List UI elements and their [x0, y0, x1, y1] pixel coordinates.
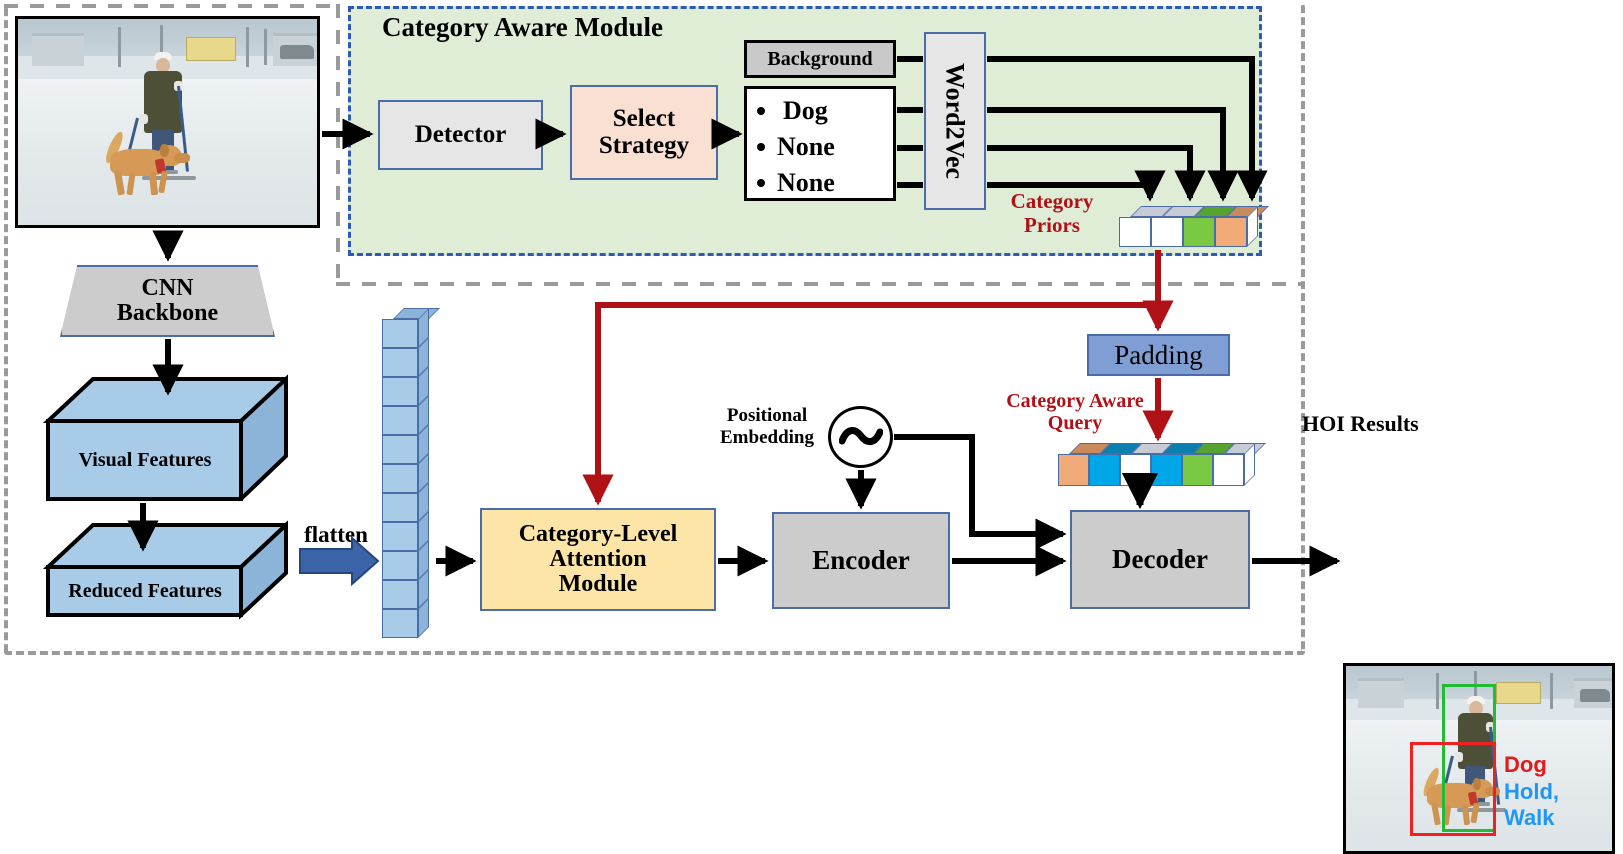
- hoi-results-image: Dog Hold, Walk: [1343, 663, 1615, 854]
- cube-cell: [1151, 454, 1182, 486]
- detector-box[interactable]: Detector: [378, 100, 543, 170]
- detection-label: None: [777, 168, 835, 198]
- attention-label-line1: Category-Level: [519, 522, 678, 547]
- detection-label: None: [777, 132, 835, 162]
- attention-label-line3: Module: [559, 572, 638, 597]
- house-left: [1358, 678, 1404, 708]
- tree: [1550, 673, 1553, 709]
- cnn-label-line2: Backbone: [117, 301, 218, 326]
- dog-leg: [126, 173, 135, 196]
- tilde-glyph: [839, 425, 883, 449]
- list-item: Dog: [757, 93, 893, 129]
- positional-embedding-line2: Embedding: [702, 427, 832, 449]
- positional-embedding-line1: Positional: [702, 405, 832, 427]
- word2vec-box[interactable]: Word2Vec: [924, 32, 986, 210]
- flatten-cell: [382, 609, 418, 638]
- dog-figure: [102, 129, 192, 197]
- input-image: [15, 16, 320, 228]
- flatten-cell: [382, 551, 418, 580]
- flatten-cell: [382, 522, 418, 551]
- background-chip: Background: [744, 40, 896, 78]
- cube-cell: [1182, 454, 1213, 486]
- cube-cell: [1151, 217, 1183, 247]
- decoder-box[interactable]: Decoder: [1070, 510, 1250, 609]
- encoder-box[interactable]: Encoder: [772, 512, 950, 609]
- tree: [1436, 673, 1439, 709]
- cube-cell: [1058, 454, 1089, 486]
- car: [280, 45, 314, 59]
- flatten-feature-column: [382, 308, 430, 628]
- reduced-features-slab: Reduced Features: [38, 515, 288, 623]
- visual-features-label: Visual Features: [50, 449, 240, 472]
- figure-root: Category Aware Module Detector Select St…: [0, 0, 1623, 669]
- bullet-icon: [757, 179, 765, 187]
- category-aware-module-title: Category Aware Module: [382, 12, 802, 43]
- cnn-backbone-trapezoid[interactable]: CNN Backbone: [60, 265, 275, 337]
- detection-label: Dog: [783, 96, 828, 126]
- flatten-cell: [382, 348, 418, 377]
- category-aware-query-line1: Category Aware: [990, 390, 1160, 412]
- flatten-cell: [382, 580, 418, 609]
- list-item: None: [757, 165, 893, 201]
- visual-features-shape: [38, 371, 288, 501]
- flatten-cell: [382, 319, 418, 348]
- detection-list: Dog None None: [744, 86, 896, 201]
- cube-cell: [1119, 217, 1151, 247]
- flatten-cell: [382, 406, 418, 435]
- dog-leg: [149, 172, 158, 196]
- tree: [264, 29, 267, 65]
- category-priors-cube-strip: [1119, 206, 1249, 248]
- category-priors-label-line1: Category: [996, 190, 1108, 214]
- select-strategy-box[interactable]: Select Strategy: [570, 85, 718, 180]
- category-aware-query-label: Category Aware Query: [990, 390, 1160, 435]
- outer-frame-divider-riser: [336, 4, 340, 286]
- cube-cell: [1120, 454, 1151, 486]
- cube-cell: [1213, 454, 1244, 486]
- tree: [118, 27, 121, 67]
- category-level-attention-module[interactable]: Category-Level Attention Module: [480, 508, 716, 611]
- category-aware-query-cube-strip: [1058, 443, 1248, 488]
- flatten-cell: [382, 435, 418, 464]
- dog-ear: [160, 144, 169, 157]
- category-priors-label-line2: Priors: [996, 214, 1108, 238]
- select-strategy-label: Select Strategy: [572, 106, 716, 159]
- outer-frame-divider: [336, 282, 1305, 286]
- attention-label-line2: Attention: [549, 547, 646, 572]
- cube-cell: [1215, 217, 1247, 247]
- bullet-icon: [757, 107, 765, 115]
- object-bounding-box: [1410, 742, 1496, 836]
- outer-frame-top-left-segment: [4, 4, 340, 8]
- flatten-cell: [382, 377, 418, 406]
- reduced-features-shape: [38, 515, 288, 623]
- object-class-label: Dog: [1504, 752, 1547, 778]
- positional-embedding-label: Positional Embedding: [702, 405, 832, 450]
- word2vec-label: Word2Vec: [941, 63, 968, 179]
- cnn-label-line1: CNN: [142, 276, 194, 301]
- list-item: None: [757, 129, 893, 165]
- visual-features-slab: Visual Features: [38, 371, 288, 501]
- tree: [246, 27, 249, 67]
- cube-cell: [1183, 217, 1215, 247]
- house-left: [32, 33, 84, 66]
- category-aware-query-line2: Query: [990, 412, 1160, 434]
- car: [1580, 689, 1610, 702]
- glove-left: [139, 114, 148, 124]
- detection-list-items: Dog None None: [747, 89, 893, 201]
- bullet-icon: [757, 143, 765, 151]
- dog-snout: [174, 153, 190, 163]
- action-class-label: Hold, Walk: [1504, 779, 1612, 831]
- category-priors-label: Category Priors: [996, 190, 1108, 237]
- flatten-cell: [382, 464, 418, 493]
- cube-cell: [1089, 454, 1120, 486]
- padding-box[interactable]: Padding: [1087, 334, 1230, 376]
- hoi-results-title: HOI Results: [1302, 411, 1502, 437]
- tilde-wave-icon: [828, 406, 893, 468]
- flatten-label: flatten: [291, 522, 381, 548]
- reduced-features-label: Reduced Features: [50, 580, 240, 603]
- flatten-cell: [382, 493, 418, 522]
